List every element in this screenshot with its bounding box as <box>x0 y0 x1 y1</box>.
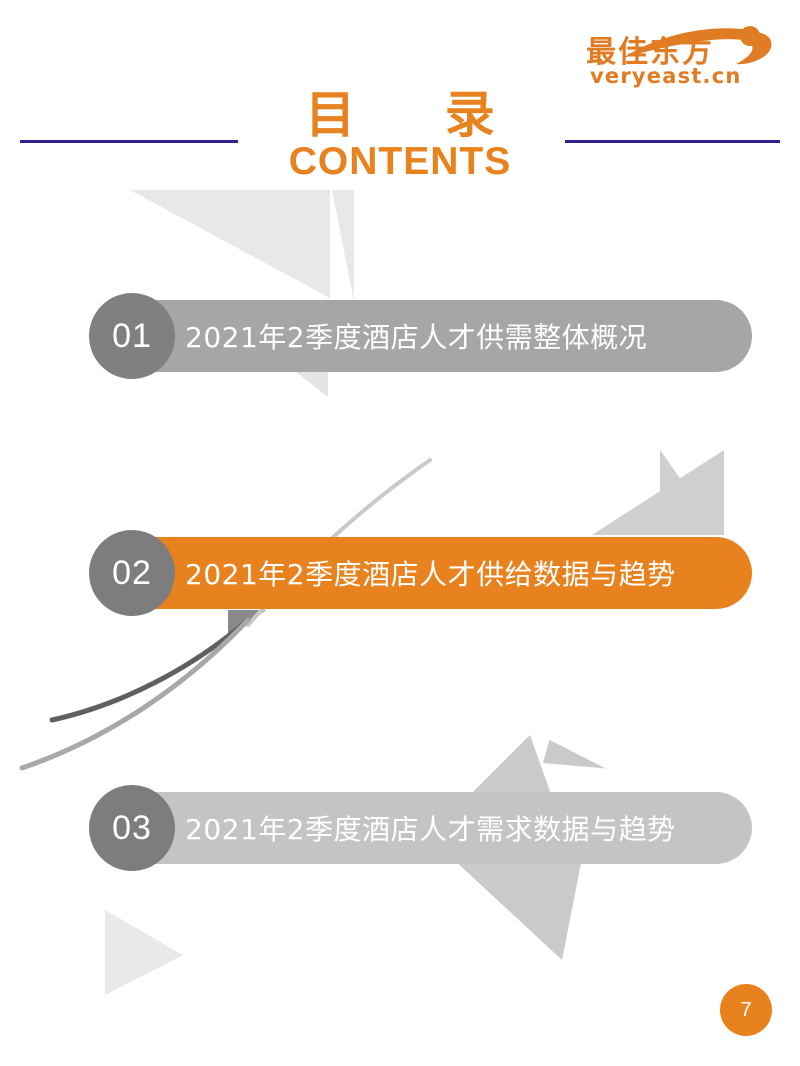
contents-item-number-badge: 01 <box>89 293 175 379</box>
slide-contents-page: 最佳东方 veryeast.cn 目 录 CONTENTS 01 2021年2季… <box>0 0 800 1066</box>
contents-item-number: 03 <box>112 809 152 848</box>
decor-triangle-top <box>130 190 330 298</box>
contents-item-number-badge: 02 <box>89 530 175 616</box>
contents-item-02[interactable]: 02 2021年2季度酒店人才供给数据与趋势 <box>90 537 752 609</box>
contents-item-01[interactable]: 01 2021年2季度酒店人才供需整体概况 <box>90 300 752 372</box>
contents-item-label: 2021年2季度酒店人才供需整体概况 <box>185 316 647 356</box>
decor-triangle-under-row3-b <box>562 858 582 960</box>
contents-item-number-badge: 03 <box>89 785 175 871</box>
contents-item-label: 2021年2季度酒店人才需求数据与趋势 <box>185 808 676 848</box>
contents-item-number: 02 <box>112 554 152 593</box>
contents-item-03[interactable]: 03 2021年2季度酒店人才需求数据与趋势 <box>90 792 752 864</box>
page-title: 目 录 <box>0 88 800 142</box>
page-subtitle: CONTENTS <box>0 140 800 184</box>
page-number-badge: 7 <box>720 984 772 1036</box>
contents-item-number: 01 <box>112 317 152 356</box>
decor-arcs <box>0 420 520 820</box>
page-number: 7 <box>740 999 751 1022</box>
page-title-block: 目 录 CONTENTS <box>0 88 800 184</box>
decor-chevron-row3 <box>543 740 609 780</box>
decor-triangle-bottom-left <box>105 910 183 995</box>
contents-item-label: 2021年2季度酒店人才供给数据与趋势 <box>185 553 676 593</box>
logo-brand-en: veryeast.cn <box>590 64 742 88</box>
decor-triangle-above-row2-b <box>660 450 720 535</box>
decor-triangle-under-row3-a <box>452 858 562 960</box>
decor-triangle-top-sliver <box>332 190 354 302</box>
